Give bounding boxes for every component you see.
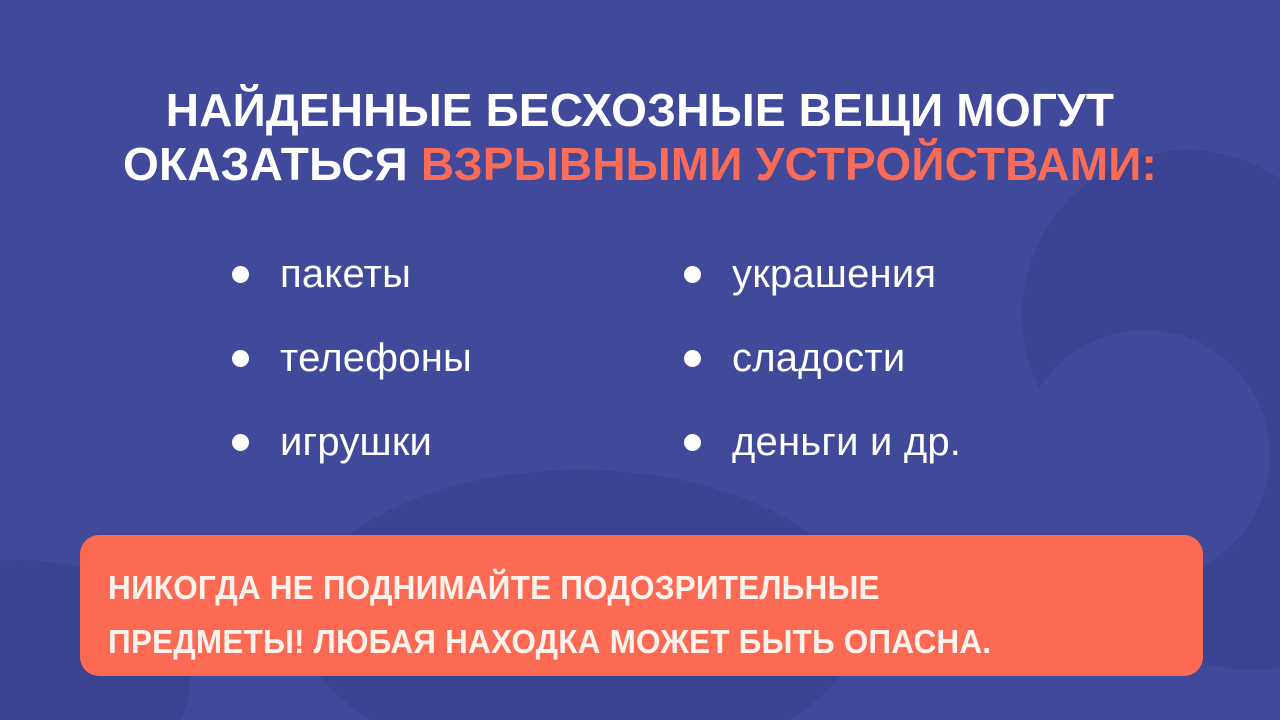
list-item: сладости	[684, 316, 1062, 400]
list-item: игрушки	[232, 400, 684, 484]
headline-line-1: НАЙДЕННЫЕ БЕСХОЗНЫЕ ВЕЩИ МОГУТ	[40, 83, 1240, 137]
list-item: украшения	[684, 232, 1062, 316]
bullet-dot-icon	[684, 266, 701, 283]
bullet-dot-icon	[684, 350, 701, 367]
list-item: пакеты	[232, 232, 684, 316]
warning-banner-line-2: ПРЕДМЕТЫ! ЛЮБАЯ НАХОДКА МОЖЕТ БЫТЬ ОПАСН…	[108, 615, 1127, 669]
bullet-dot-icon	[232, 434, 249, 451]
list-item-label: украшения	[732, 254, 936, 294]
bullet-dot-icon	[684, 434, 701, 451]
warning-banner: НИКОГДА НЕ ПОДНИМАЙТЕ ПОДОЗРИТЕЛЬНЫЕ ПРЕ…	[80, 535, 1203, 676]
list-item-label: сладости	[732, 338, 905, 378]
items-column-left: пакеты телефоны игрушки	[232, 232, 684, 484]
bullet-dot-icon	[232, 350, 249, 367]
items-column-right: украшения сладости деньги и др.	[684, 232, 1062, 484]
bullet-dot-icon	[232, 266, 249, 283]
headline-line-2-plain: ОКАЗАТЬСЯ	[123, 138, 421, 190]
headline-line-2: ОКАЗАТЬСЯ ВЗРЫВНЫМИ УСТРОЙСТВАМИ:	[40, 137, 1240, 191]
list-item-label: игрушки	[280, 422, 432, 462]
poster-root: НАЙДЕННЫЕ БЕСХОЗНЫЕ ВЕЩИ МОГУТ ОКАЗАТЬСЯ…	[0, 0, 1280, 720]
list-item-label: телефоны	[280, 338, 472, 378]
list-item-label: деньги и др.	[732, 422, 961, 462]
list-item: телефоны	[232, 316, 684, 400]
items-list: пакеты телефоны игрушки украшения сладос…	[232, 232, 1062, 484]
list-item-label: пакеты	[280, 254, 411, 294]
list-item: деньги и др.	[684, 400, 1062, 484]
headline-line-2-accent: ВЗРЫВНЫМИ УСТРОЙСТВАМИ:	[421, 138, 1157, 190]
headline: НАЙДЕННЫЕ БЕСХОЗНЫЕ ВЕЩИ МОГУТ ОКАЗАТЬСЯ…	[0, 83, 1280, 192]
warning-banner-line-1: НИКОГДА НЕ ПОДНИМАЙТЕ ПОДОЗРИТЕЛЬНЫЕ	[108, 561, 1127, 615]
